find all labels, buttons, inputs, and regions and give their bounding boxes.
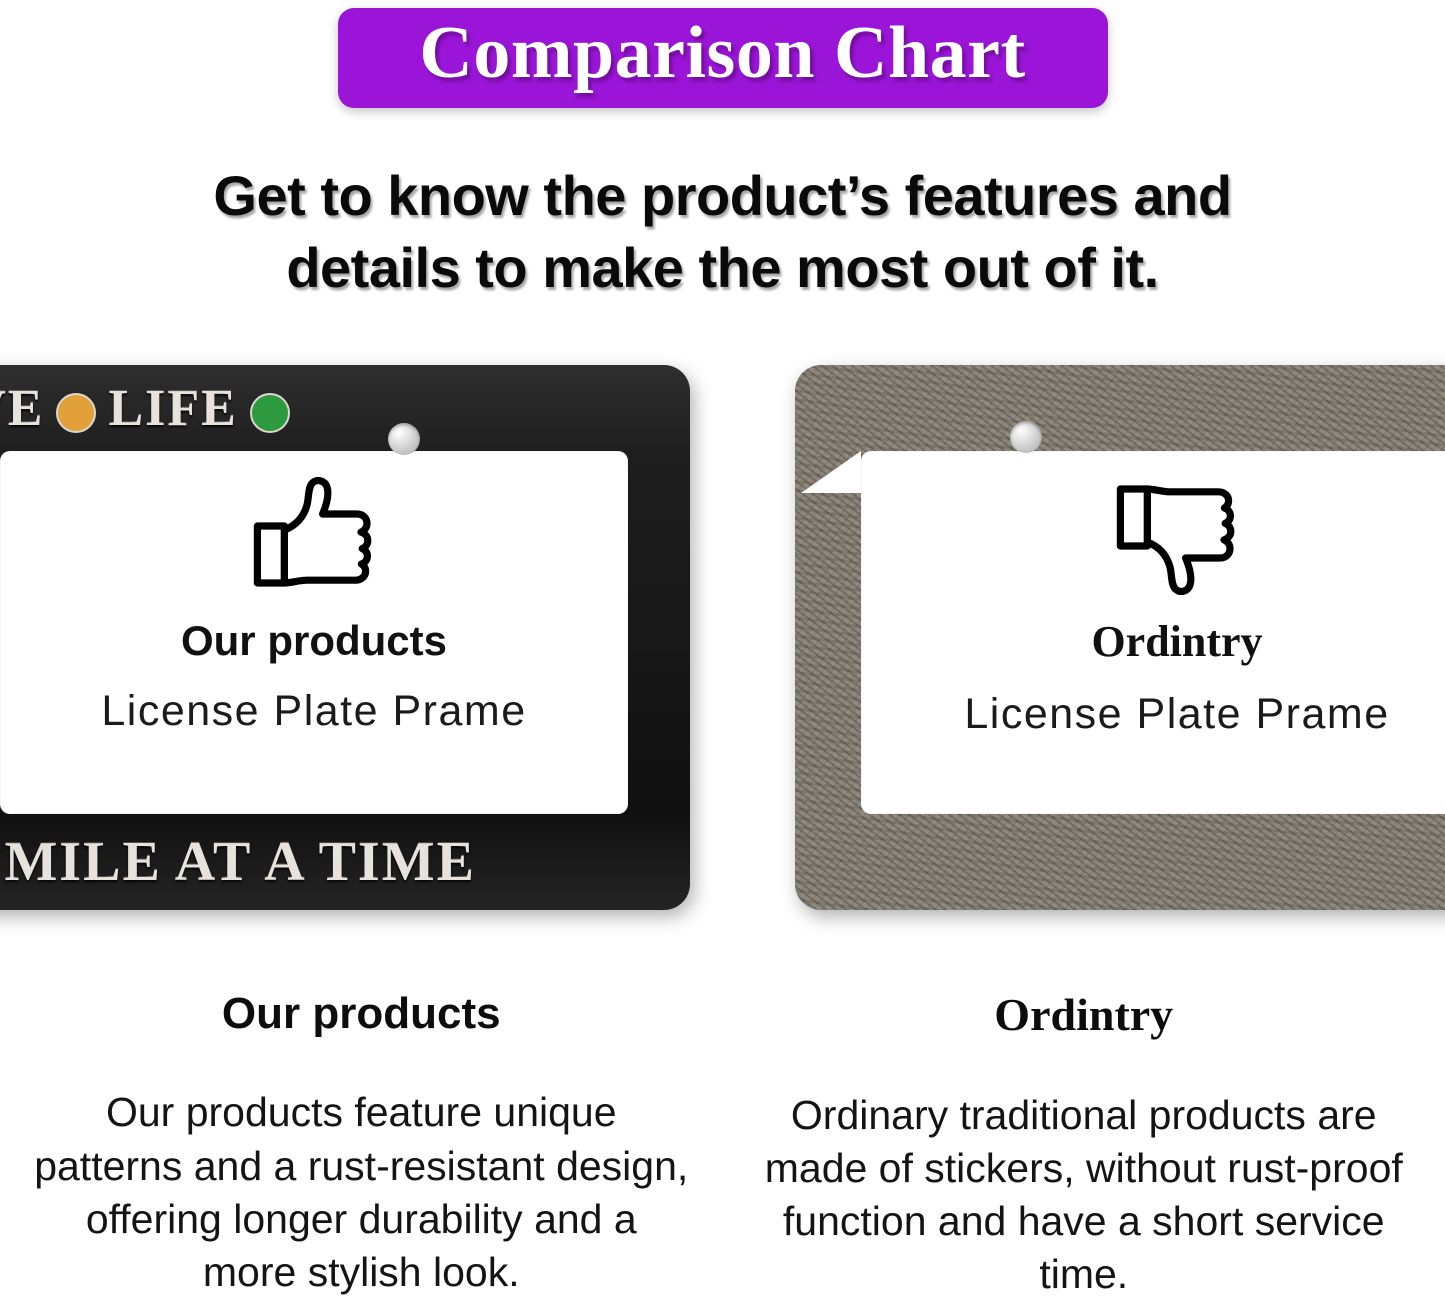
comparison-columns: Our products Our products feature unique… (0, 990, 1445, 1314)
plate-bottom-band-left: R MILE AT A TIME (0, 814, 690, 910)
title-banner: Comparison Chart (338, 8, 1108, 108)
green-dot-icon (250, 393, 290, 433)
orange-dot-icon (56, 393, 96, 433)
inner-subtitle-ordinary: License Plate Prame (847, 690, 1445, 739)
column-body-ours: Our products feature unique patterns and… (34, 1086, 689, 1299)
thumbs-up-icon (253, 477, 375, 589)
subtitle-line-1: Get to know the product’s features and (70, 160, 1375, 232)
inner-labels-right: Ordintry License Plate Prame (795, 617, 1445, 739)
plate-top-band-text-left: IVELIFE (0, 379, 302, 438)
product-frame-ours: IVELIFE R MILE AT A TIME Our products Li… (0, 365, 690, 910)
mounting-hole-icon (1010, 421, 1042, 453)
thumbs-down-icon (1116, 483, 1238, 595)
column-body-ordinary: Ordinary traditional products are made o… (757, 1089, 1412, 1302)
inner-labels-left: Our products License Plate Prame (0, 617, 690, 737)
subtitle: Get to know the product’s features and d… (0, 160, 1445, 303)
inner-title-ours: Our products (0, 617, 690, 665)
column-ours: Our products Our products feature unique… (0, 990, 723, 1314)
column-heading-ours: Our products (34, 990, 689, 1038)
inner-subtitle-ours: License Plate Prame (0, 687, 690, 736)
plate-top-band-left: IVELIFE (0, 365, 690, 451)
mounting-hole-icon (388, 423, 420, 455)
product-frame-ordinary: Ordintry License Plate Prame (795, 365, 1445, 910)
subtitle-line-2: details to make the most out of it. (70, 232, 1375, 304)
title-banner-container: Comparison Chart (0, 8, 1445, 108)
page-title: Comparison Chart (419, 14, 1025, 94)
column-heading-ordinary: Ordintry (757, 990, 1412, 1041)
comparison-frames: IVELIFE R MILE AT A TIME Our products Li… (0, 355, 1445, 930)
inner-title-ordinary: Ordintry (847, 617, 1445, 668)
plate-bottom-band-text-left: R MILE AT A TIME (0, 830, 476, 894)
column-ordinary: Ordintry Ordinary traditional products a… (723, 990, 1445, 1314)
